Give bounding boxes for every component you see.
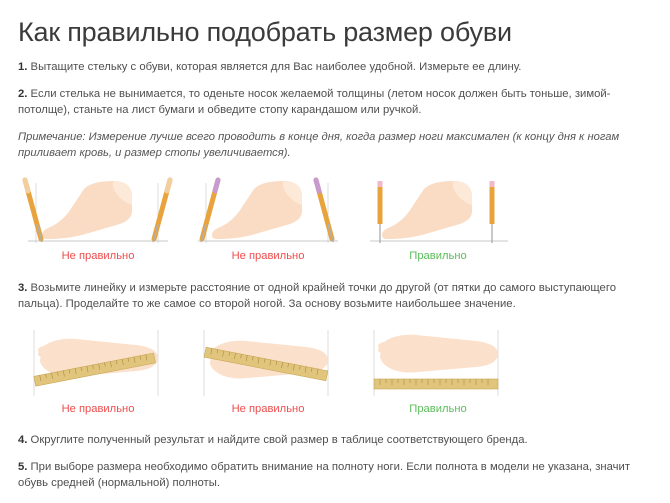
ruler-body [374, 379, 498, 389]
pencil-figures-row: Не правильно Не правил [18, 177, 652, 269]
step-5-paragraph: 5. При выборе размера необходимо обратит… [18, 448, 652, 491]
pencil-left-eraser [25, 180, 28, 191]
step-1-number: 1. [18, 61, 27, 73]
step-1-paragraph: 1. Вытащите стельку с обуви, которая явл… [18, 48, 652, 75]
caption-pencils-inward: Не правильно [188, 250, 348, 262]
caption-pencils-vertical: Правильно [358, 250, 518, 262]
step-3-number: 3. [18, 282, 27, 294]
figure-ruler-diagonal-reverse: Не правильно [188, 326, 348, 421]
figure-ruler-diagonal: Не правильно [18, 326, 178, 421]
step-2-paragraph: 2. Если стелька не вынимается, то оденьт… [18, 75, 652, 118]
pencils-vertical-illustration [358, 177, 518, 249]
pencil-right [153, 180, 170, 242]
ruler-horizontal-illustration [358, 326, 518, 402]
ruler-figures-row: Не правильно [18, 326, 652, 421]
page-title: Как правильно подобрать размер обуви [18, 0, 652, 48]
pencils-outward-illustration [18, 177, 178, 249]
caption-ruler-diagonal: Не правильно [18, 403, 178, 415]
figure-pencils-vertical: Правильно [358, 177, 518, 269]
ruler-diagonal-illustration [18, 326, 178, 402]
note-paragraph: Примечание: Измерение лучше всего провод… [18, 118, 652, 162]
step-4-paragraph: 4. Округлите полученный результат и найд… [18, 421, 652, 448]
figure-pencils-tilted-outward: Не правильно [18, 177, 178, 269]
step-2-number: 2. [18, 88, 27, 100]
step-4-number: 4. [18, 434, 27, 446]
foot-top-shape [378, 335, 498, 373]
ruler-group [374, 379, 498, 389]
ruler-diagonal-reverse-illustration [188, 326, 348, 402]
step-4-text: Округлите полученный результат и найдите… [27, 434, 527, 446]
step-2-text: Если стелька не вынимается, то оденьте н… [18, 88, 610, 116]
pencil-right-eraser [316, 180, 319, 191]
figure-pencils-tilted-inward: Не правильно [188, 177, 348, 269]
caption-ruler-diagonal-reverse: Не правильно [188, 403, 348, 415]
pencil-right-eraser [167, 180, 170, 191]
article-page: Как правильно подобрать размер обуви 1. … [0, 0, 670, 503]
pencils-inward-illustration [188, 177, 348, 249]
step-3-paragraph: 3. Возьмите линейку и измерьте расстояни… [18, 269, 652, 312]
pencil-left-eraser [215, 180, 218, 191]
step-5-text: При выборе размера необходимо обратить в… [18, 461, 630, 489]
pencil-right [316, 180, 333, 242]
step-5-number: 5. [18, 461, 27, 473]
pencil-left [25, 180, 42, 242]
caption-pencils-outward: Не правильно [18, 250, 178, 262]
caption-ruler-horizontal: Правильно [358, 403, 518, 415]
step-3-text: Возьмите линейку и измерьте расстояние о… [18, 282, 616, 310]
step-1-text: Вытащите стельку с обуви, которая являет… [27, 61, 521, 73]
figure-ruler-horizontal: Правильно [358, 326, 518, 421]
